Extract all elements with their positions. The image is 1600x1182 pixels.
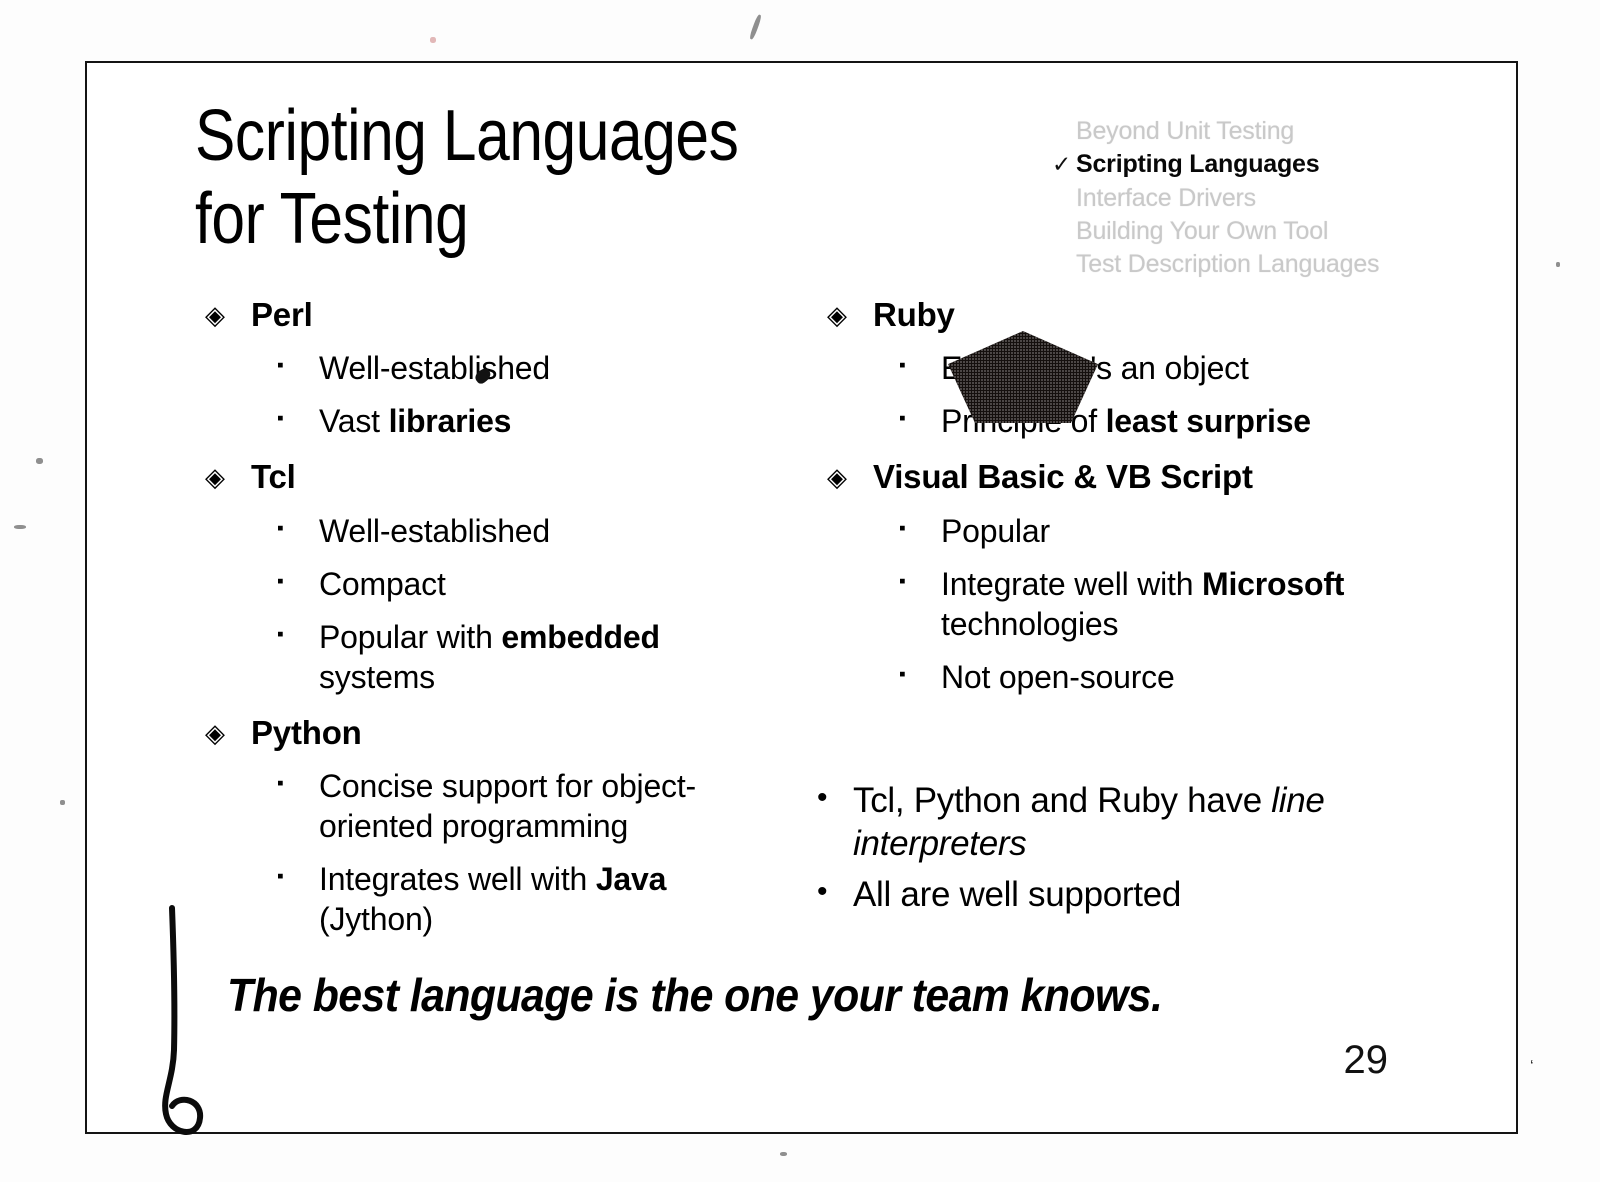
list-item-heading: Ruby (873, 295, 955, 335)
list-item-perl: ◈ Perl (205, 295, 765, 335)
list-item: ▪ Vast libraries (277, 401, 765, 441)
list-item-text: Integrates well with Java (Jython) (319, 859, 765, 939)
list-item: • Tcl, Python and Ruby have line interpr… (817, 779, 1457, 865)
square-bullet-icon: ▪ (277, 766, 319, 802)
agenda-item-label: Building Your Own Tool (1076, 215, 1328, 248)
list-item-visual-basic: ◈ Visual Basic & VB Script (827, 457, 1447, 497)
diamond-bullet-icon: ◈ (827, 457, 873, 494)
diamond-bullet-icon: ◈ (205, 713, 251, 750)
list-item-text: Popular with embedded systems (319, 617, 765, 697)
page-title: Scripting Languages for Testing (195, 95, 859, 261)
list-item: ▪ Popular with embedded systems (277, 617, 765, 697)
scan-speck (1556, 262, 1560, 267)
list-item: ▪ Not open-source (899, 657, 1447, 697)
slide-tagline: The best language is the one your team k… (227, 968, 1371, 1022)
list-item-text: Everything's an object (941, 348, 1249, 388)
list-item-heading: Python (251, 713, 362, 753)
agenda-item-test-description-languages[interactable]: Test Description Languages (1052, 248, 1482, 281)
square-bullet-icon: ▪ (277, 564, 319, 600)
scan-speck (780, 1152, 787, 1156)
checkmark-icon: ✓ (1052, 149, 1076, 180)
agenda-item-scripting-languages[interactable]: ✓ Scripting Languages (1052, 148, 1482, 181)
scan-speck (36, 458, 43, 464)
list-item: ▪ Integrate well with Microsoft technolo… (899, 564, 1447, 644)
square-bullet-icon: ▪ (277, 859, 319, 895)
list-item: ▪ Well-established (277, 348, 765, 388)
list-item-text: Well-established (319, 511, 550, 551)
list-item-text: All are well supported (853, 873, 1181, 916)
list-item-text: Well-established (319, 348, 550, 388)
square-bullet-icon: ▪ (899, 564, 941, 600)
agenda-list: Beyond Unit Testing ✓ Scripting Language… (1052, 115, 1482, 281)
scanned-page: Scripting Languages for Testing Beyond U… (0, 0, 1600, 1182)
square-bullet-icon: ▪ (899, 511, 941, 547)
list-item-tcl: ◈ Tcl (205, 457, 765, 497)
square-bullet-icon: ▪ (899, 657, 941, 693)
diamond-bullet-icon: ◈ (827, 295, 873, 332)
agenda-item-label: Scripting Languages (1076, 148, 1319, 181)
square-bullet-icon: ▪ (899, 348, 941, 384)
list-item-text: Popular (941, 511, 1050, 551)
list-item-text: Principle of least surprise (941, 401, 1311, 441)
list-item-text: Compact (319, 564, 446, 604)
slide-frame: Scripting Languages for Testing Beyond U… (85, 61, 1518, 1134)
list-item: ▪ Integrates well with Java (Jython) (277, 859, 765, 939)
list-item-python: ◈ Python (205, 713, 765, 753)
diamond-bullet-icon: ◈ (205, 457, 251, 494)
list-item-text: Not open-source (941, 657, 1175, 697)
list-item: ▪ Compact (277, 564, 765, 604)
list-item-text: Tcl, Python and Ruby have line interpret… (853, 779, 1457, 865)
summary-list: • Tcl, Python and Ruby have line interpr… (817, 771, 1457, 916)
round-bullet-icon: • (817, 873, 853, 911)
square-bullet-icon: ▪ (277, 401, 319, 437)
scan-speck (14, 525, 26, 529)
page-number: 29 (1344, 1038, 1389, 1083)
agenda-item-beyond-unit-testing[interactable]: Beyond Unit Testing (1052, 115, 1482, 148)
list-item-text: Concise support for object-oriented prog… (319, 766, 765, 846)
agenda-item-label: Beyond Unit Testing (1076, 115, 1294, 148)
list-item-heading: Perl (251, 295, 313, 335)
right-content-column: ◈ Ruby ▪ Everything's an object ▪ Princi… (827, 295, 1447, 697)
list-item: ▪ Everything's an object (899, 348, 1447, 388)
margin-speck: ‘ (1530, 1058, 1534, 1076)
left-content-column: ◈ Perl ▪ Well-established ▪ Vast librari… (205, 295, 765, 939)
list-item-heading: Tcl (251, 457, 296, 497)
square-bullet-icon: ▪ (277, 511, 319, 547)
list-item-heading: Visual Basic & VB Script (873, 457, 1253, 497)
list-item: ▪ Concise support for object-oriented pr… (277, 766, 765, 846)
scan-speck (430, 37, 436, 43)
agenda-item-interface-drivers[interactable]: Interface Drivers (1052, 182, 1482, 215)
list-item-text: Vast libraries (319, 401, 511, 441)
diamond-bullet-icon: ◈ (205, 295, 251, 332)
square-bullet-icon: ▪ (899, 401, 941, 437)
scan-speck (749, 14, 763, 40)
square-bullet-icon: ▪ (277, 617, 319, 653)
agenda-item-label: Test Description Languages (1076, 248, 1379, 281)
scan-speck (60, 800, 65, 805)
list-item: ▪ Principle of least surprise (899, 401, 1447, 441)
list-item: ▪ Popular (899, 511, 1447, 551)
square-bullet-icon: ▪ (277, 348, 319, 384)
list-item-text: Integrate well with Microsoft technologi… (941, 564, 1447, 644)
agenda-item-building-your-own-tool[interactable]: Building Your Own Tool (1052, 215, 1482, 248)
list-item: ▪ Well-established (277, 511, 765, 551)
list-item: • All are well supported (817, 873, 1457, 916)
round-bullet-icon: • (817, 779, 853, 817)
agenda-item-label: Interface Drivers (1076, 182, 1256, 215)
list-item-ruby: ◈ Ruby (827, 295, 1447, 335)
